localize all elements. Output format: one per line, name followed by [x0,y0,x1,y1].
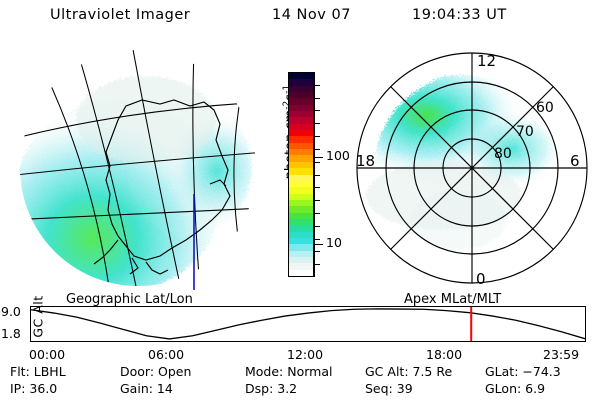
status-ip: IP: 36.0 [10,381,57,396]
colorbar-minor-tick [314,239,320,240]
apex-image-panel[interactable]: 12 6 0 18 60 70 80 Apex MLat/MLT [348,44,596,292]
colorbar-minor-tick [314,85,320,86]
orbit-altitude-plot[interactable]: GC Alt 9.0 1.8 00:0006:0012:0018:0023:59 [30,306,586,342]
apex-projection: 12 6 0 18 60 70 80 [348,44,596,292]
status-gain: Gain: 14 [120,381,173,396]
mlat-label-60: 60 [536,100,554,116]
status-dsp: Dsp: 3.2 [245,381,297,396]
status-bar: Flt: LBHL IP: 36.0 Door: Open Gain: 14 M… [0,364,600,400]
uvi-screenshot: Ultraviolet Imager 14 Nov 07 19:04:33 UT [0,0,600,400]
colorbar-minor-tick [314,200,320,201]
colorbar-band-31 [289,270,313,276]
colorbar-minor-tick [314,264,320,265]
colorbar-tick-label-10: 10 [326,237,342,250]
colorbar-minor-tick [314,162,320,163]
colorbar-gradient [288,72,314,277]
status-gcalt: GC Alt: 7.5 Re [365,364,452,379]
mlt-label-0: 0 [476,270,486,288]
colorbar-tick-label-100: 100 [326,150,350,163]
orbit-xtick-2359: 23:59 [543,347,579,362]
orbit-track-svg [31,307,585,341]
orbit-ylabel: GC Alt [31,288,46,346]
header: Ultraviolet Imager 14 Nov 07 19:04:33 UT [0,7,600,29]
orbit-xtick-1800: 18:00 [426,347,462,362]
colorbar-minor-tick [314,110,320,111]
colorbar-minor-tick [314,136,320,137]
colorbar-major-tick-0 [314,157,323,158]
geographic-projection [14,44,262,292]
status-glat: GLat: −74.3 [485,364,561,379]
mlat-label-80: 80 [494,146,512,162]
orbit-xtick-0000: 00:00 [29,347,65,362]
orbit-ytick-top: 9.0 [1,304,21,319]
orbit-ytick-bottom: 1.8 [1,326,21,341]
colorbar-minor-tick [314,226,320,227]
orbit-xtick-1200: 12:00 [287,347,323,362]
colorbar-minor-tick [314,187,320,188]
instrument-title: Ultraviolet Imager [50,7,190,23]
geographic-image-panel[interactable]: Geographic Lat/Lon [14,44,262,292]
status-flt: Flt: LBHL [10,364,66,379]
apex-caption: Apex MLat/MLT [404,292,501,307]
mlt-label-18: 18 [356,152,375,170]
colorbar: photon cm-2s-1 10010 [266,62,342,292]
colorbar-minor-tick [314,251,320,252]
colorbar-minor-tick [314,213,320,214]
status-door: Door: Open [120,364,191,379]
status-seq: Seq: 39 [365,381,413,396]
mlt-spokes [357,53,587,283]
colorbar-minor-tick [314,149,320,150]
mlt-label-12: 12 [477,52,496,70]
orbit-xtick-0600: 06:00 [148,347,184,362]
geographic-caption: Geographic Lat/Lon [66,292,193,307]
observation-time: 19:04:33 UT [412,7,507,23]
mlat-label-70: 70 [516,124,534,140]
status-mode: Mode: Normal [245,364,332,379]
observation-date: 14 Nov 07 [272,7,351,23]
status-glon: GLon: 6.9 [485,381,545,396]
orbit-altitude-curve [31,309,585,339]
colorbar-minor-tick [314,98,320,99]
colorbar-minor-tick [314,175,320,176]
colorbar-major-tick-1 [314,244,323,245]
colorbar-minor-tick [314,123,320,124]
mlt-label-6: 6 [570,152,580,170]
